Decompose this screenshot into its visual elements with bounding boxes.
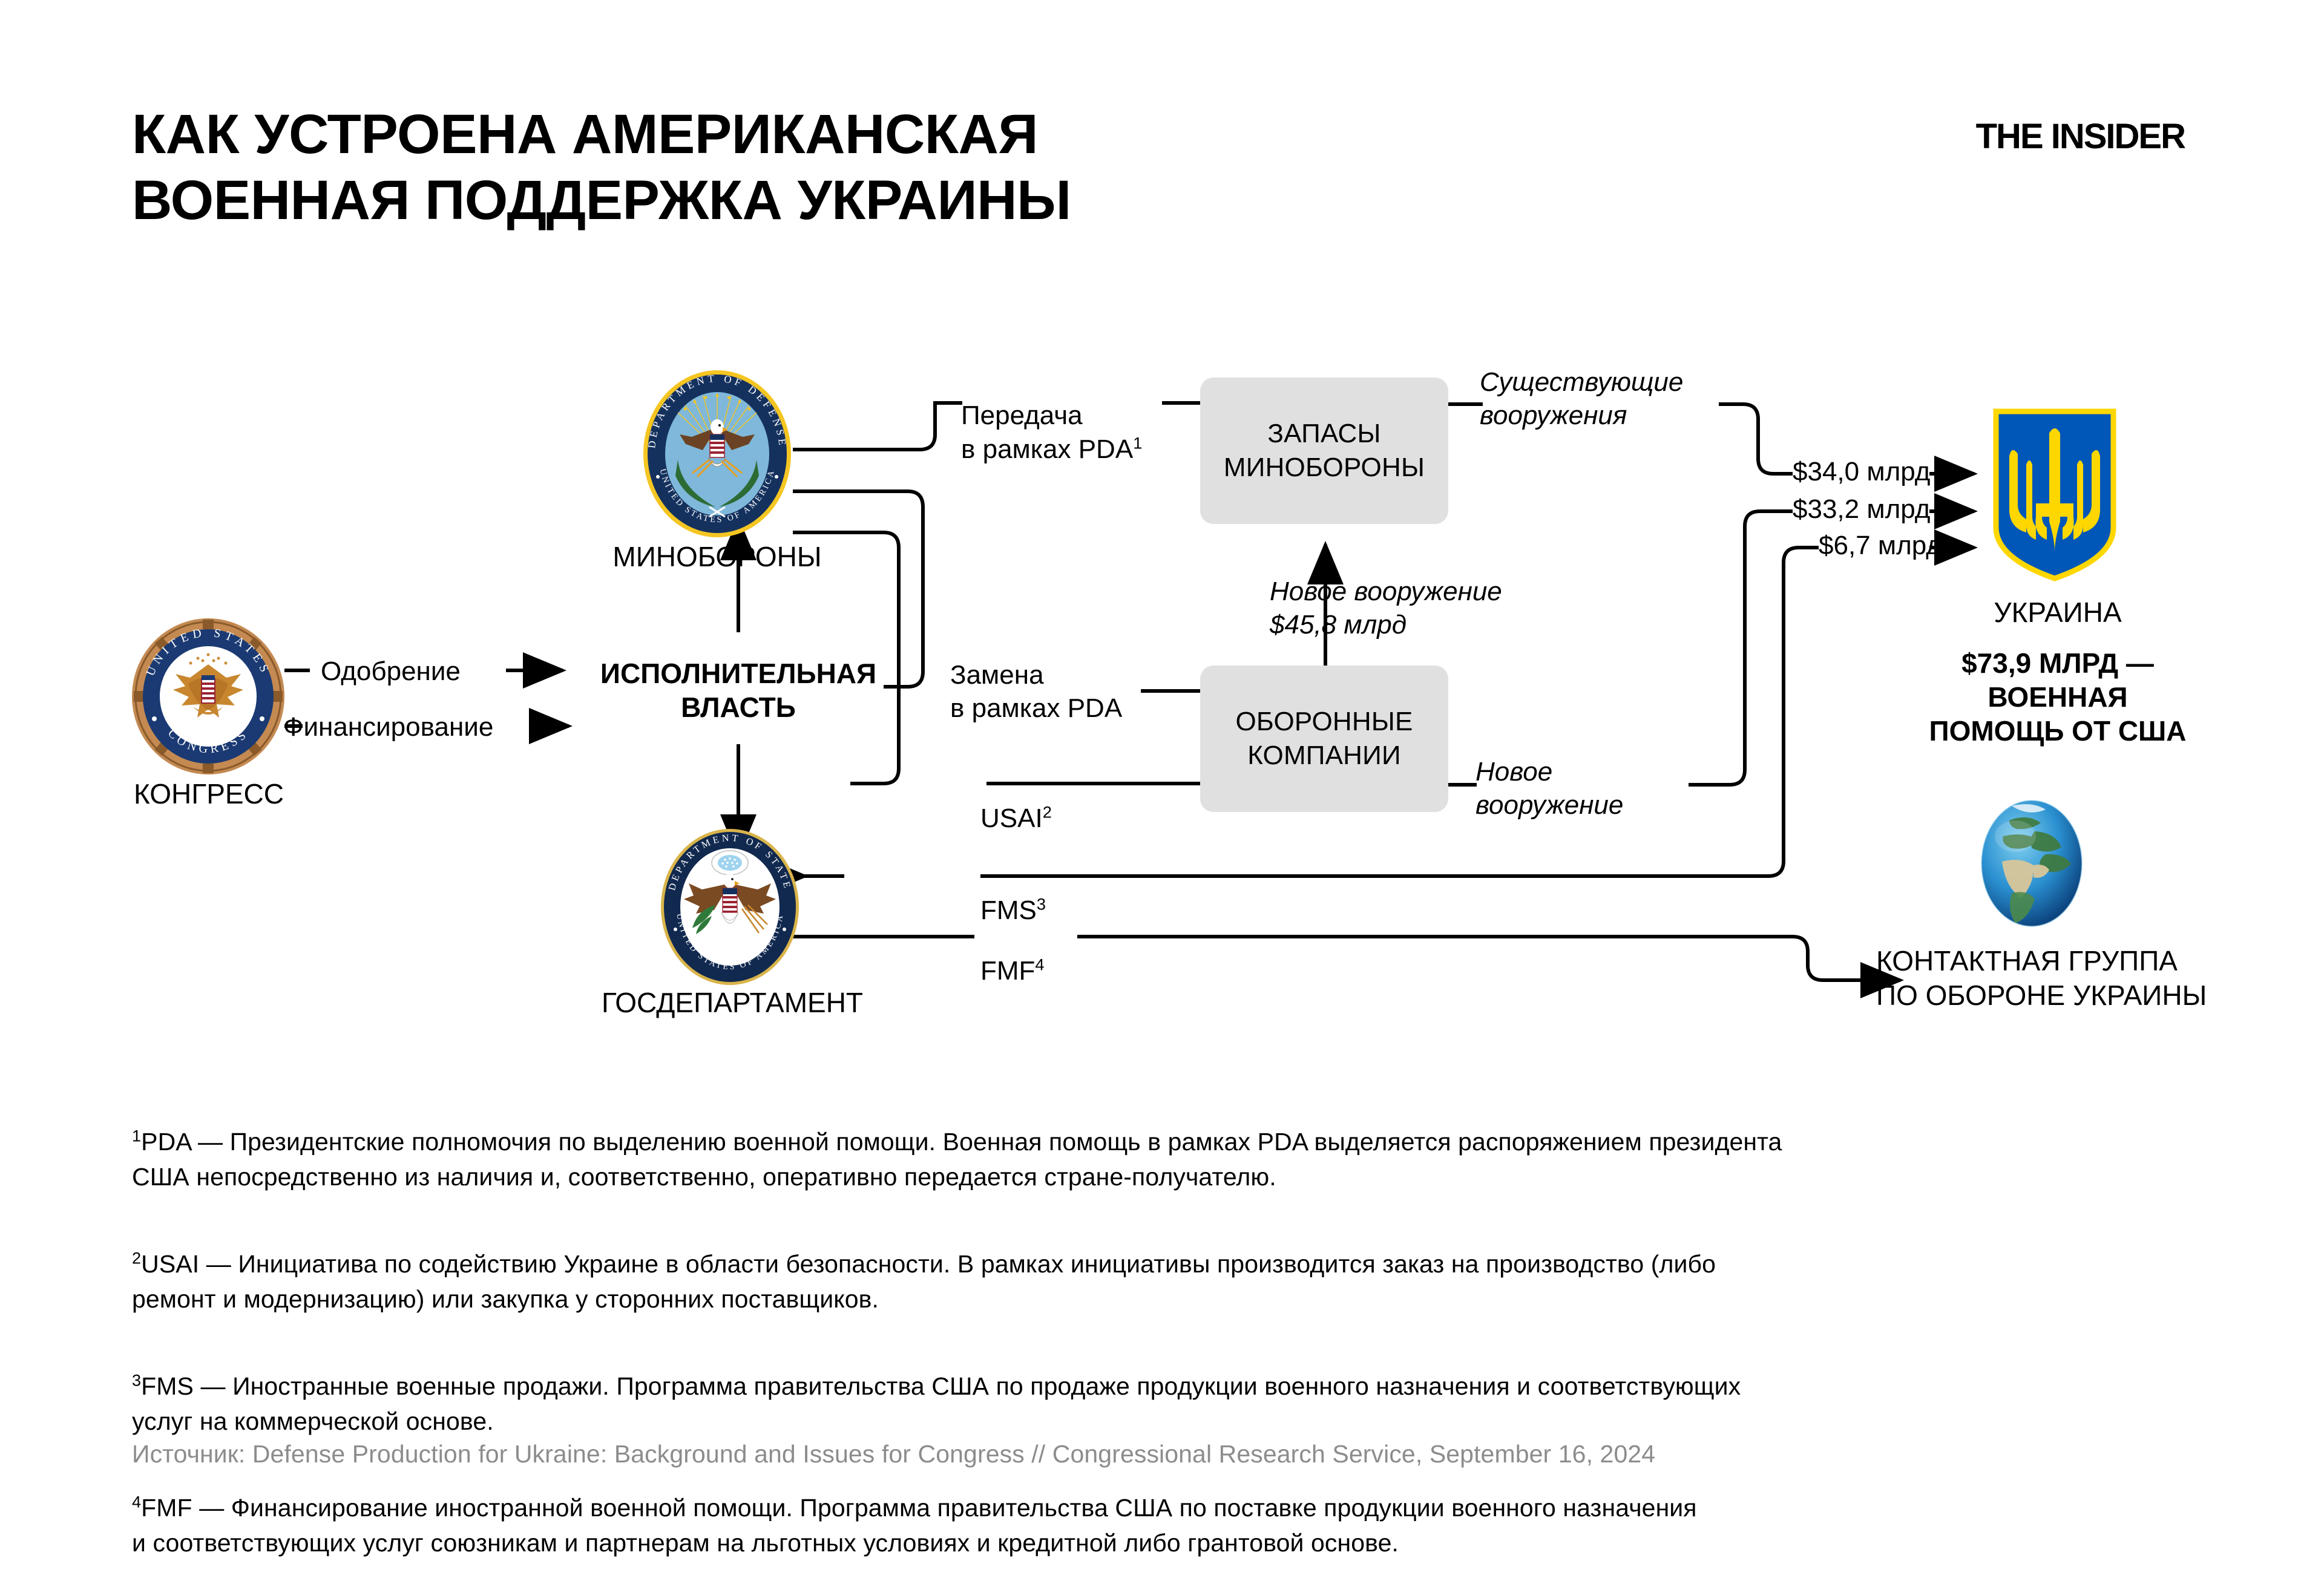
footnote-3: 3FMS — Иностранные военные продажи. Прог… bbox=[132, 1333, 2202, 1439]
infographic-canvas: КАК УСТРОЕНА АМЕРИКАНСКАЯ ВОЕННАЯ ПОДДЕР… bbox=[0, 0, 2324, 1584]
ukraine-total-aid: $73,9 МЛРД — ВОЕННАЯ ПОМОЩЬ ОТ США bbox=[1906, 646, 2209, 748]
edge-label-pda-transfer: Передача в рамках PDA1 bbox=[961, 365, 1142, 466]
edge-label-funding: Финансирование bbox=[283, 710, 493, 744]
footnote-4: 4FMF — Финансирование иностранной военно… bbox=[132, 1455, 2202, 1561]
defense-companies-box: ОБОРОННЫЕ КОМПАНИИ bbox=[1200, 666, 1448, 812]
state-dept-caption: ГОСДЕПАРТАМЕНТ bbox=[593, 986, 871, 1019]
edge-label-new-weapons-in: Новое вооружение $45,8 млрд bbox=[1270, 575, 1502, 642]
amount-label-2: $33,2 млрд bbox=[1793, 493, 1930, 526]
footnote-2-mark: 2 bbox=[132, 1249, 141, 1267]
globe-icon bbox=[1974, 799, 2089, 929]
edge-label-pda-replace: Замена в рамках PDA bbox=[950, 658, 1122, 725]
source-line: Источник: Defense Production for Ukraine… bbox=[132, 1440, 1655, 1468]
footnote-1-mark: 1 bbox=[132, 1127, 141, 1145]
state-dept-seal: DEPARTMENT OF STATE UNITED STATES OF AME… bbox=[660, 828, 800, 986]
ukraine-coat-of-arms bbox=[1991, 407, 2118, 582]
amount-label-3: $6,7 млрд bbox=[1819, 529, 1942, 562]
edge-label-fmf-text: FMF bbox=[980, 956, 1035, 986]
footnote-3-text: FMS — Иностранные военные продажи. Прогр… bbox=[132, 1372, 1741, 1435]
edge-label-pda-transfer-text: Передача в рамках PDA bbox=[961, 401, 1133, 463]
edge-label-approval: Одобрение bbox=[321, 655, 461, 688]
dod-caption: МИНОБОРОНЫ bbox=[596, 540, 838, 574]
contact-group-caption: КОНТАКТНАЯ ГРУППА ПО ОБОРОНЕ УКРАИНЫ bbox=[1876, 944, 2251, 1013]
footnote-1: 1PDA — Президентские полномочия по выдел… bbox=[132, 1089, 2202, 1195]
footnote-4-text: FMF — Финансирование иностранной военной… bbox=[132, 1494, 1697, 1557]
amount-label-1: $34,0 млрд bbox=[1793, 455, 1930, 488]
footnote-4-mark: 4 bbox=[132, 1493, 141, 1511]
edge-label-usai-text: USAI bbox=[980, 803, 1043, 833]
ukraine-caption: УКРАИНА bbox=[1931, 596, 2185, 629]
footnote-3-mark: 3 bbox=[132, 1371, 141, 1389]
edge-label-fms: FMS3 bbox=[980, 860, 1046, 928]
footnote-ref-1: 1 bbox=[1133, 433, 1142, 452]
footnote-1-text: PDA — Президентские полномочия по выделе… bbox=[132, 1128, 1782, 1191]
footnote-ref-3: 3 bbox=[1037, 895, 1046, 914]
dod-seal: DEPARTMENT OF DEFENSE UNITED STATES OF A… bbox=[642, 369, 793, 538]
footnotes: 1PDA — Президентские полномочия по выдел… bbox=[132, 1089, 2202, 1577]
footnote-ref-4: 4 bbox=[1035, 955, 1044, 974]
footnote-2: 2USAI — Инициатива по содействию Украине… bbox=[132, 1211, 2202, 1317]
edge-label-new-weapons-out: Новое вооружение bbox=[1475, 755, 1623, 822]
edge-label-usai: USAI2 bbox=[980, 768, 1052, 836]
edge-label-fmf: FMF4 bbox=[980, 921, 1045, 988]
edge-label-existing-weapons: Существующие вооружения bbox=[1480, 365, 1683, 433]
footnote-2-text: USAI — Инициатива по содействию Украине … bbox=[132, 1250, 1716, 1313]
us-congress-seal: UNITED STATES CONGRESS bbox=[130, 617, 286, 776]
executive-branch-label: ИСПОЛНИТЕЛЬНАЯ ВЛАСТЬ bbox=[590, 656, 887, 724]
congress-caption: КОНГРЕСС bbox=[88, 777, 330, 811]
dod-stockpile-box: ЗАПАСЫ МИНОБОРОНЫ bbox=[1200, 378, 1448, 524]
footnote-ref-2: 2 bbox=[1043, 803, 1052, 822]
